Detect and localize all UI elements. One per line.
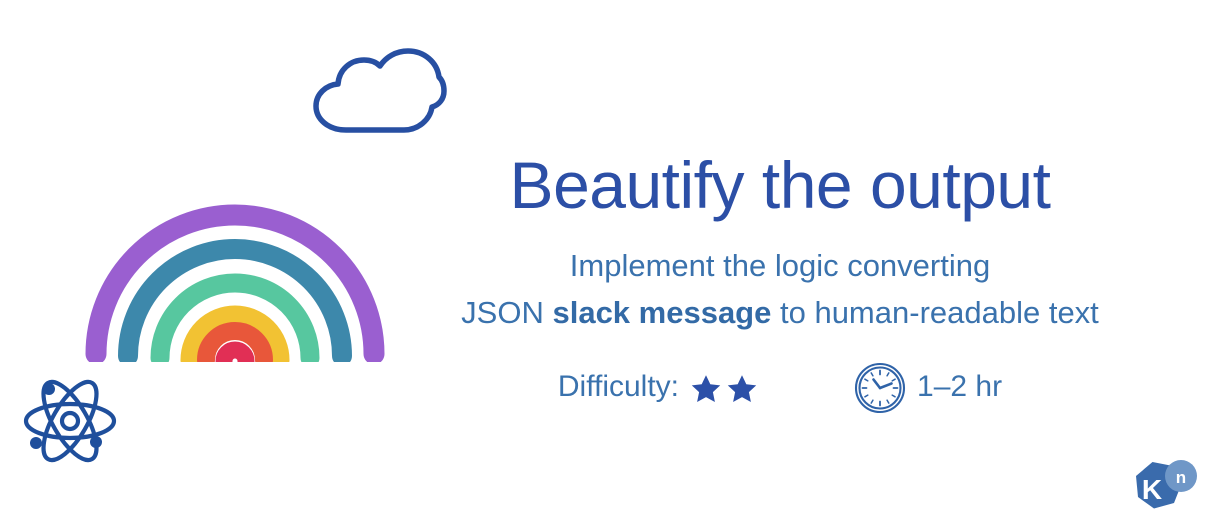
star-icon	[725, 372, 759, 406]
logo-mark-letter: K	[1142, 474, 1162, 505]
subtitle: Implement the logic converting JSON slac…	[420, 242, 1140, 336]
star-icon	[689, 372, 723, 406]
duration-label: 1–2 hr	[917, 370, 1002, 404]
subtitle-line-1: Implement the logic converting	[420, 242, 1140, 289]
knowledge-logo[interactable]: K n	[1124, 454, 1200, 526]
subtitle-prefix: JSON	[461, 295, 552, 330]
slide-canvas: Beautify the output Implement the logic …	[0, 0, 1216, 532]
subtitle-bold-term: slack message	[552, 295, 771, 330]
subtitle-suffix: to human-readable text	[771, 295, 1098, 330]
difficulty-label: Difficulty:	[558, 370, 679, 404]
atom-icon	[20, 370, 120, 472]
page-title: Beautify the output	[420, 152, 1140, 218]
duration-indicator: 1–2 hr	[853, 360, 1002, 414]
difficulty-stars	[689, 372, 759, 406]
content-block: Beautify the output Implement the logic …	[420, 152, 1140, 414]
clock-icon	[853, 361, 907, 415]
meta-row: Difficulty:	[420, 360, 1140, 414]
logo-badge-letter: n	[1176, 468, 1186, 487]
subtitle-line-2: JSON slack message to human-readable tex…	[420, 289, 1140, 336]
difficulty-indicator: Difficulty:	[558, 370, 759, 404]
rainbow-icon	[84, 190, 386, 362]
cloud-icon	[300, 42, 452, 142]
